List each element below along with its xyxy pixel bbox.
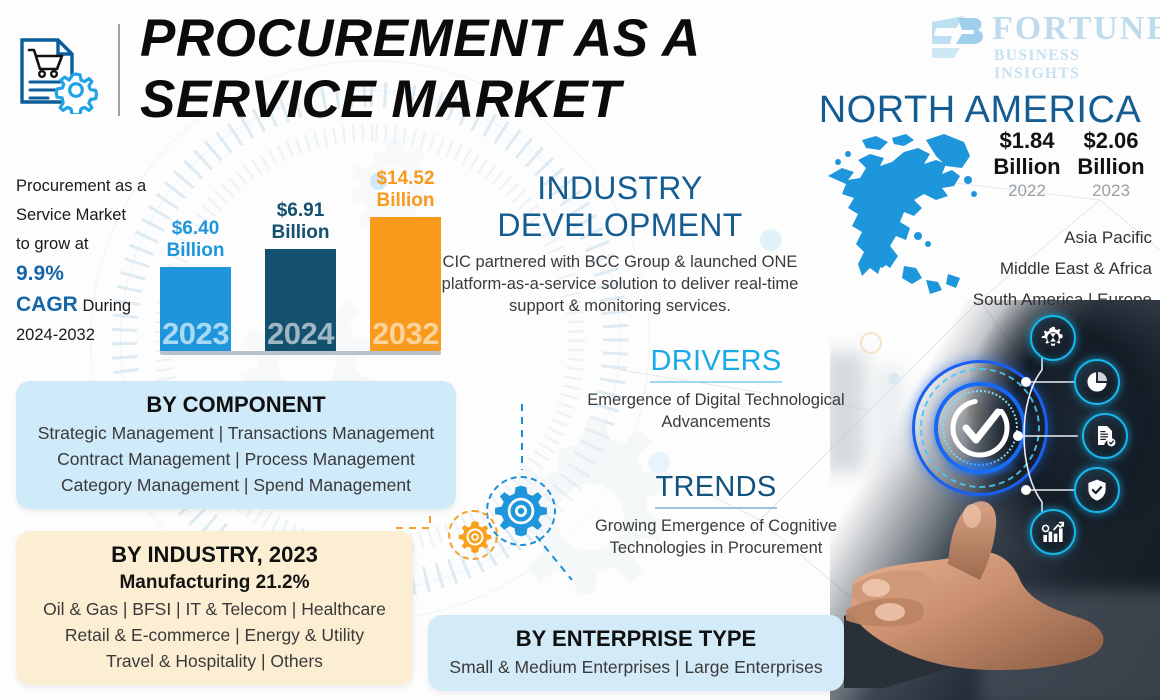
industry-development-body: CIC partnered with BCC Group & launched …: [418, 251, 822, 317]
shield-check-icon: [1074, 467, 1120, 513]
procurement-document-icon: [14, 34, 106, 114]
region-list: Asia Pacific Middle East & Africa South …: [830, 222, 1152, 315]
page-title: PROCUREMENT AS A SERVICE MARKET: [140, 8, 830, 130]
pie-chart-icon: [1074, 359, 1120, 405]
region-item: South America | Europe: [830, 284, 1152, 315]
drivers-heading: DRIVERS: [650, 344, 781, 383]
by-industry-row: Retail & E-commerce | Energy & Utility: [24, 622, 405, 648]
by-industry-heading: BY INDUSTRY, 2023: [24, 540, 405, 570]
bar-value-label-2024: $6.91 Billion: [271, 200, 329, 249]
logo-tagline: BUSINESS INSIGHTS: [994, 47, 1146, 83]
bar-year-2032: 2032: [372, 319, 439, 351]
trends-heading: TRENDS: [655, 470, 776, 509]
bar-column-2023: $6.40 Billion 2023: [160, 267, 231, 351]
bar-2023: 2023: [160, 267, 231, 351]
industry-development-heading-1: INDUSTRY: [418, 170, 822, 207]
logo-mark-icon: [930, 14, 986, 60]
na-stat-2022: $1.84 Billion 2022: [985, 128, 1069, 202]
by-enterprise-type-panel: BY ENTERPRISE TYPE Small & Medium Enterp…: [428, 615, 844, 691]
hand-hologram-photo: [830, 300, 1160, 700]
na-stat-2023: $2.06 Billion 2023: [1069, 128, 1153, 202]
bar-value-label-2023: $6.40 Billion: [166, 218, 224, 267]
bar-year-2023: 2023: [162, 319, 229, 351]
document-check-icon: [1082, 413, 1128, 459]
fortune-business-insights-logo: FORTUNE BUSINESS INSIGHTS: [930, 10, 1146, 70]
by-industry-panel: BY INDUSTRY, 2023 Manufacturing 21.2% Oi…: [16, 531, 413, 685]
bar-chart-growth-icon: [1030, 509, 1076, 555]
header-divider: [118, 24, 120, 116]
by-industry-row: Oil & Gas | BFSI | IT & Telecom | Health…: [24, 596, 405, 622]
by-component-row: Category Management | Spend Management: [24, 472, 448, 498]
infographic-canvas: PROCUREMENT AS A SERVICE MARKET FORTUNE …: [0, 0, 1160, 700]
cagr-line-1: Procurement as a: [16, 172, 176, 201]
logo-wordmark: FORTUNE: [992, 10, 1160, 48]
by-component-row: Contract Management | Process Management: [24, 446, 448, 472]
by-industry-row: Travel & Hospitality | Others: [24, 648, 405, 674]
cagr-line-3: to grow at: [16, 230, 176, 259]
industry-development-heading-2: DEVELOPMENT: [418, 207, 822, 244]
cagr-line-2: Service Market: [16, 201, 176, 230]
by-component-heading: BY COMPONENT: [24, 390, 448, 420]
region-item: Asia Pacific: [830, 222, 1152, 253]
market-size-bar-chart: $6.40 Billion 2023 $6.91 Billion 2024 $1…: [160, 160, 445, 355]
bar-2024: 2024: [265, 249, 336, 351]
cagr-word: CAGR: [16, 293, 78, 316]
cagr-callout: Procurement as a Service Market to grow …: [16, 172, 176, 350]
industry-development-section: INDUSTRY DEVELOPMENT CIC partnered with …: [418, 170, 822, 317]
north-america-stats: $1.84 Billion 2022 $2.06 Billion 2023: [985, 128, 1153, 202]
bar-column-2024: $6.91 Billion 2024: [265, 249, 336, 351]
bar-year-2024: 2024: [267, 319, 334, 351]
chart-baseline: [160, 351, 441, 355]
region-item: Middle East & Africa: [830, 253, 1152, 284]
by-component-panel: BY COMPONENT Strategic Management | Tran…: [16, 381, 456, 509]
by-industry-leader: Manufacturing 21.2%: [24, 570, 405, 596]
by-enterprise-heading: BY ENTERPRISE TYPE: [436, 624, 836, 654]
cagr-during: During: [82, 297, 131, 315]
north-america-heading: NORTH AMERICA: [806, 88, 1154, 132]
gear-cluster-decoration: [440, 460, 580, 570]
cagr-rate: 9.9%: [16, 262, 64, 285]
cagr-period: 2024-2032: [16, 321, 176, 350]
gear-hourglass-icon: [1030, 315, 1076, 361]
by-enterprise-row: Small & Medium Enterprises | Large Enter…: [436, 654, 836, 680]
by-component-row: Strategic Management | Transactions Mana…: [24, 420, 448, 446]
